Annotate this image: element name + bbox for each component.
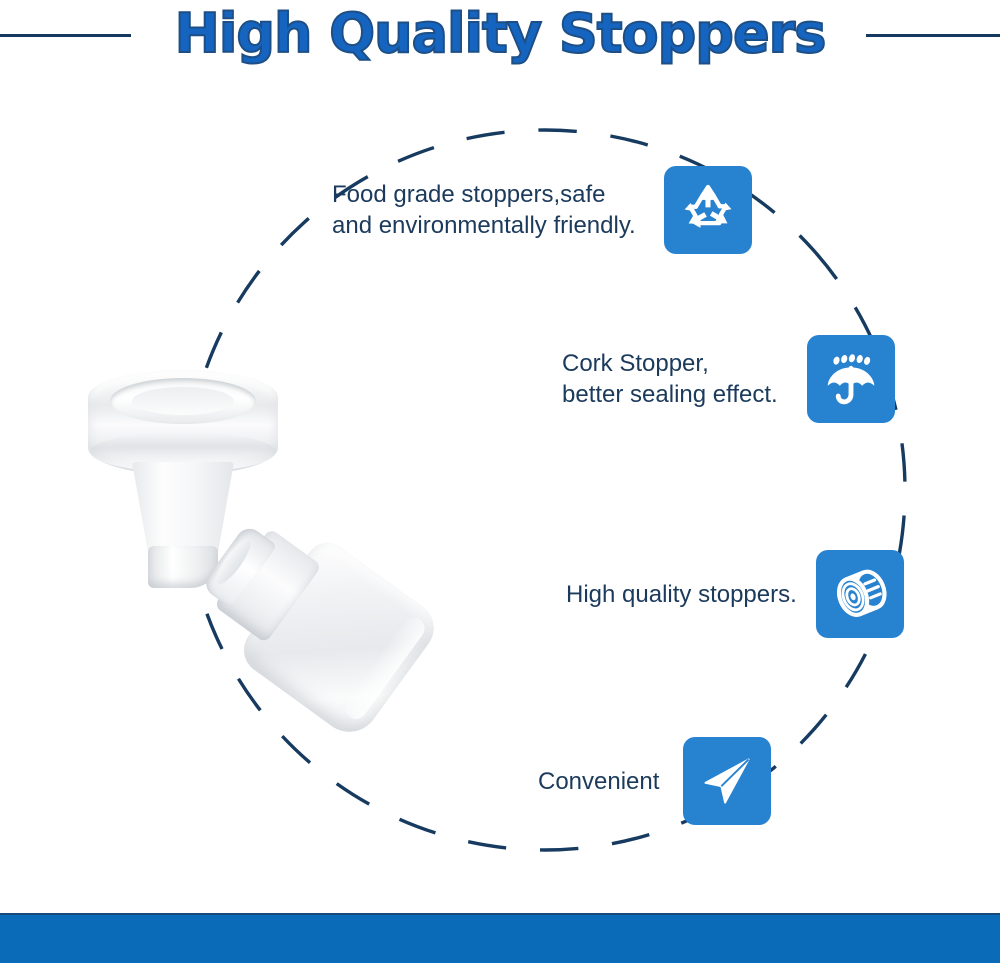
feature-convenient: Convenient: [538, 737, 771, 825]
cork-log-icon: [816, 550, 904, 638]
feature-cork-stopper-label: Cork Stopper, better sealing effect.: [562, 348, 807, 410]
recycle-icon: [664, 166, 752, 254]
stopper-upper-neck: [132, 462, 234, 554]
feature-convenient-label: Convenient: [538, 766, 683, 797]
feature-cork-stopper: Cork Stopper, better sealing effect.: [562, 335, 895, 423]
feature-food-grade: Food grade stoppers,safe and environment…: [332, 166, 752, 254]
paper-plane-icon: [683, 737, 771, 825]
header: High Quality Stoppers: [0, 0, 1000, 80]
feature-high-quality-label: High quality stoppers.: [566, 579, 816, 610]
product-photo: [60, 350, 460, 750]
feature-food-grade-label: Food grade stoppers,safe and environment…: [332, 179, 662, 241]
umbrella-rain-icon: [807, 335, 895, 423]
page-title: High Quality Stoppers: [0, 0, 1000, 70]
infographic-canvas: High Quality Stoppers Food grade stopper…: [0, 0, 1000, 963]
feature-high-quality: High quality stoppers.: [566, 550, 904, 638]
bottom-accent-bar: [0, 913, 1000, 963]
